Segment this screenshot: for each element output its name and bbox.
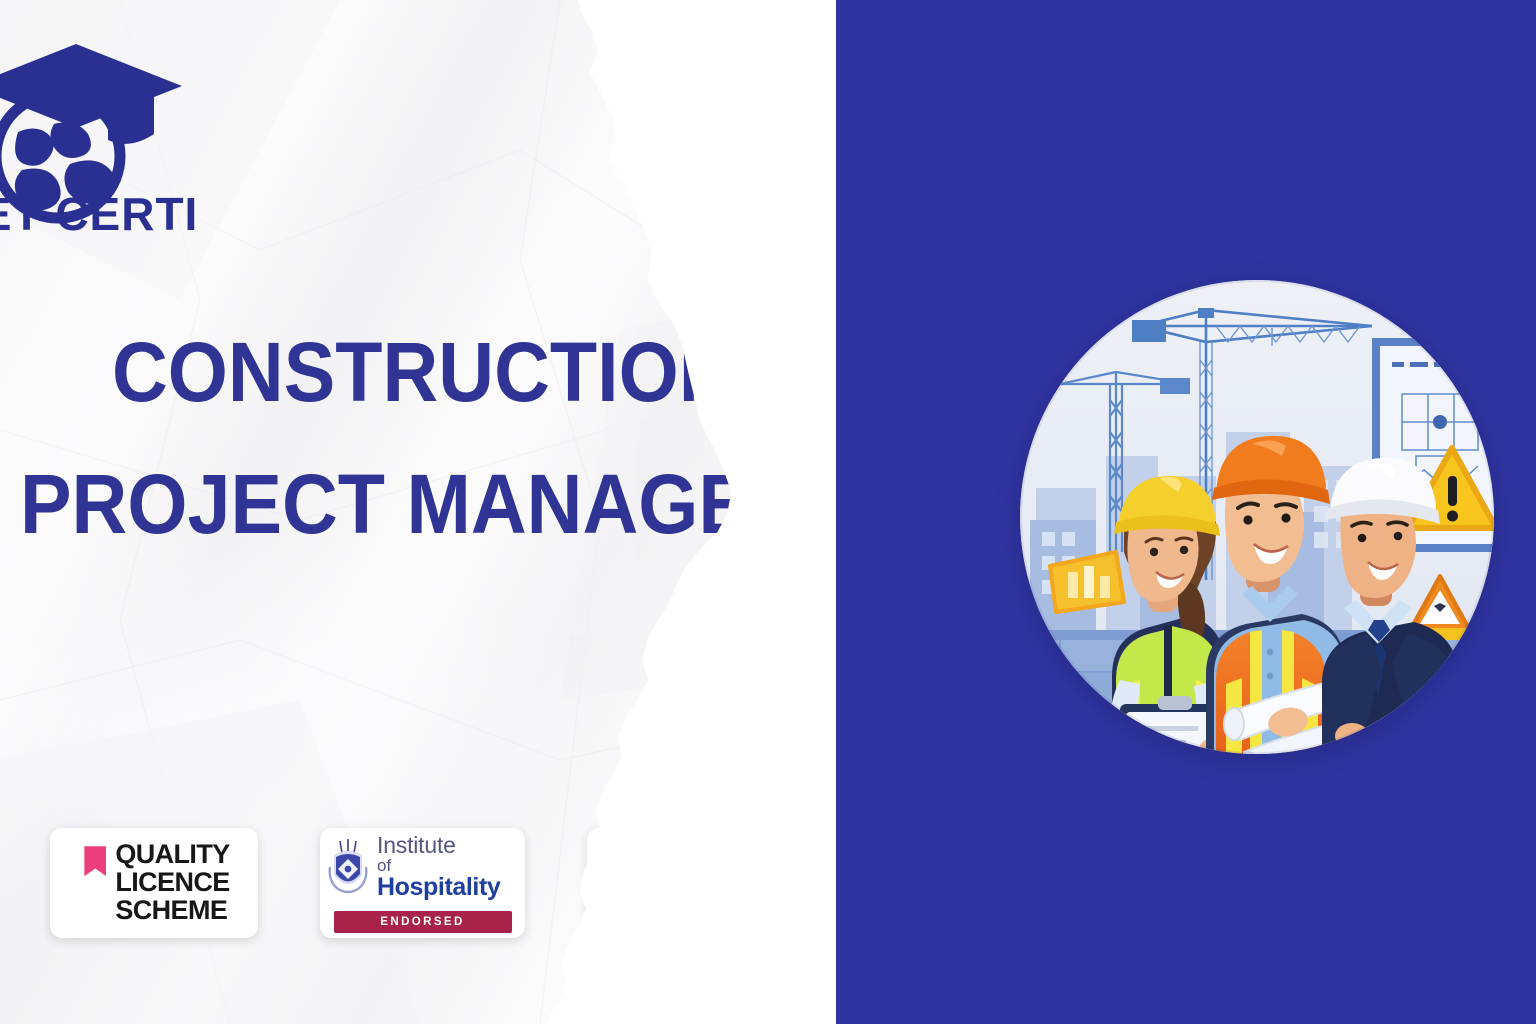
page-title: Construction Project Management — [0, 330, 800, 547]
title-line-1: Construction — [112, 330, 745, 416]
ioh-line-2-bold: Hospitality — [377, 873, 500, 901]
ioh-line-1: Institute — [377, 834, 519, 857]
qls-line-3: SCHEME — [115, 897, 229, 925]
logo-wordmark: GET CERTIFY — [0, 188, 198, 236]
title-line-2: Project Management — [20, 462, 738, 548]
ioh-endorsed-band: ENDORSED — [334, 911, 512, 933]
badge-quality-licence-scheme[interactable]: QUALITY LICENCE SCHEME — [50, 828, 258, 938]
qls-line-2: LICENCE — [115, 869, 229, 897]
badge-institute-of-hospitality[interactable]: Institute of Hospitality ENDORSED — [320, 828, 525, 938]
poster-stage: GET CERTIFY Construction Project Managem… — [0, 0, 1536, 1024]
bookmark-icon — [84, 846, 106, 876]
cpd-line-3: The CPD Certification Service — [618, 912, 756, 924]
badge-cpd-member[interactable]: CPD MEMBER The CPD Certification Service — [587, 828, 787, 934]
cpd-line-1: CPD — [618, 839, 756, 881]
cpd-line-2: MEMBER — [618, 873, 756, 907]
graduation-cap-globe-icon: GET CERTIFY — [0, 36, 198, 236]
heraldic-crest-icon — [326, 837, 370, 897]
construction-team-illustration — [1020, 280, 1494, 754]
accreditation-badges: QUALITY LICENCE SCHEME — [50, 828, 787, 938]
hero-image-circle — [1020, 280, 1494, 754]
brand-logo[interactable]: GET CERTIFY — [0, 36, 198, 236]
qls-line-1: QUALITY — [115, 841, 229, 869]
